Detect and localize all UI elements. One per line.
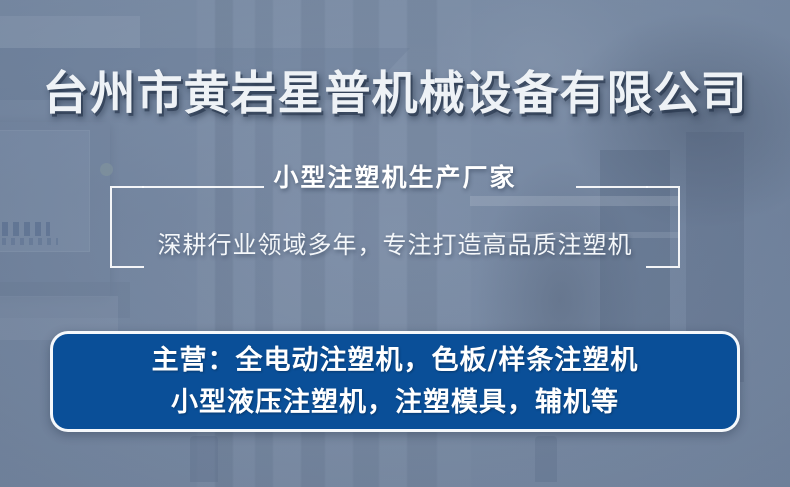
sub-title: 小型注塑机生产厂家 (110, 161, 680, 195)
tag-line: 深耕行业领域多年，专注打造高品质注塑机 (110, 228, 680, 262)
business-scope-line-1: 主营：全电动注塑机，色板/样条注塑机 (152, 341, 639, 381)
business-scope-line-2: 小型液压注塑机，注塑模具，辅机等 (171, 383, 619, 423)
company-promo-banner: 台州市黄岩星普机械设备有限公司 小型注塑机生产厂家 深耕行业领域多年，专注打造高… (0, 0, 790, 487)
headline-bracket-frame: 小型注塑机生产厂家 深耕行业领域多年，专注打造高品质注塑机 (110, 186, 680, 268)
business-scope-box: 主营：全电动注塑机，色板/样条注塑机 小型液压注塑机，注塑模具，辅机等 (50, 331, 740, 432)
banner-content: 台州市黄岩星普机械设备有限公司 小型注塑机生产厂家 深耕行业领域多年，专注打造高… (0, 0, 790, 487)
company-title: 台州市黄岩星普机械设备有限公司 (0, 66, 790, 120)
